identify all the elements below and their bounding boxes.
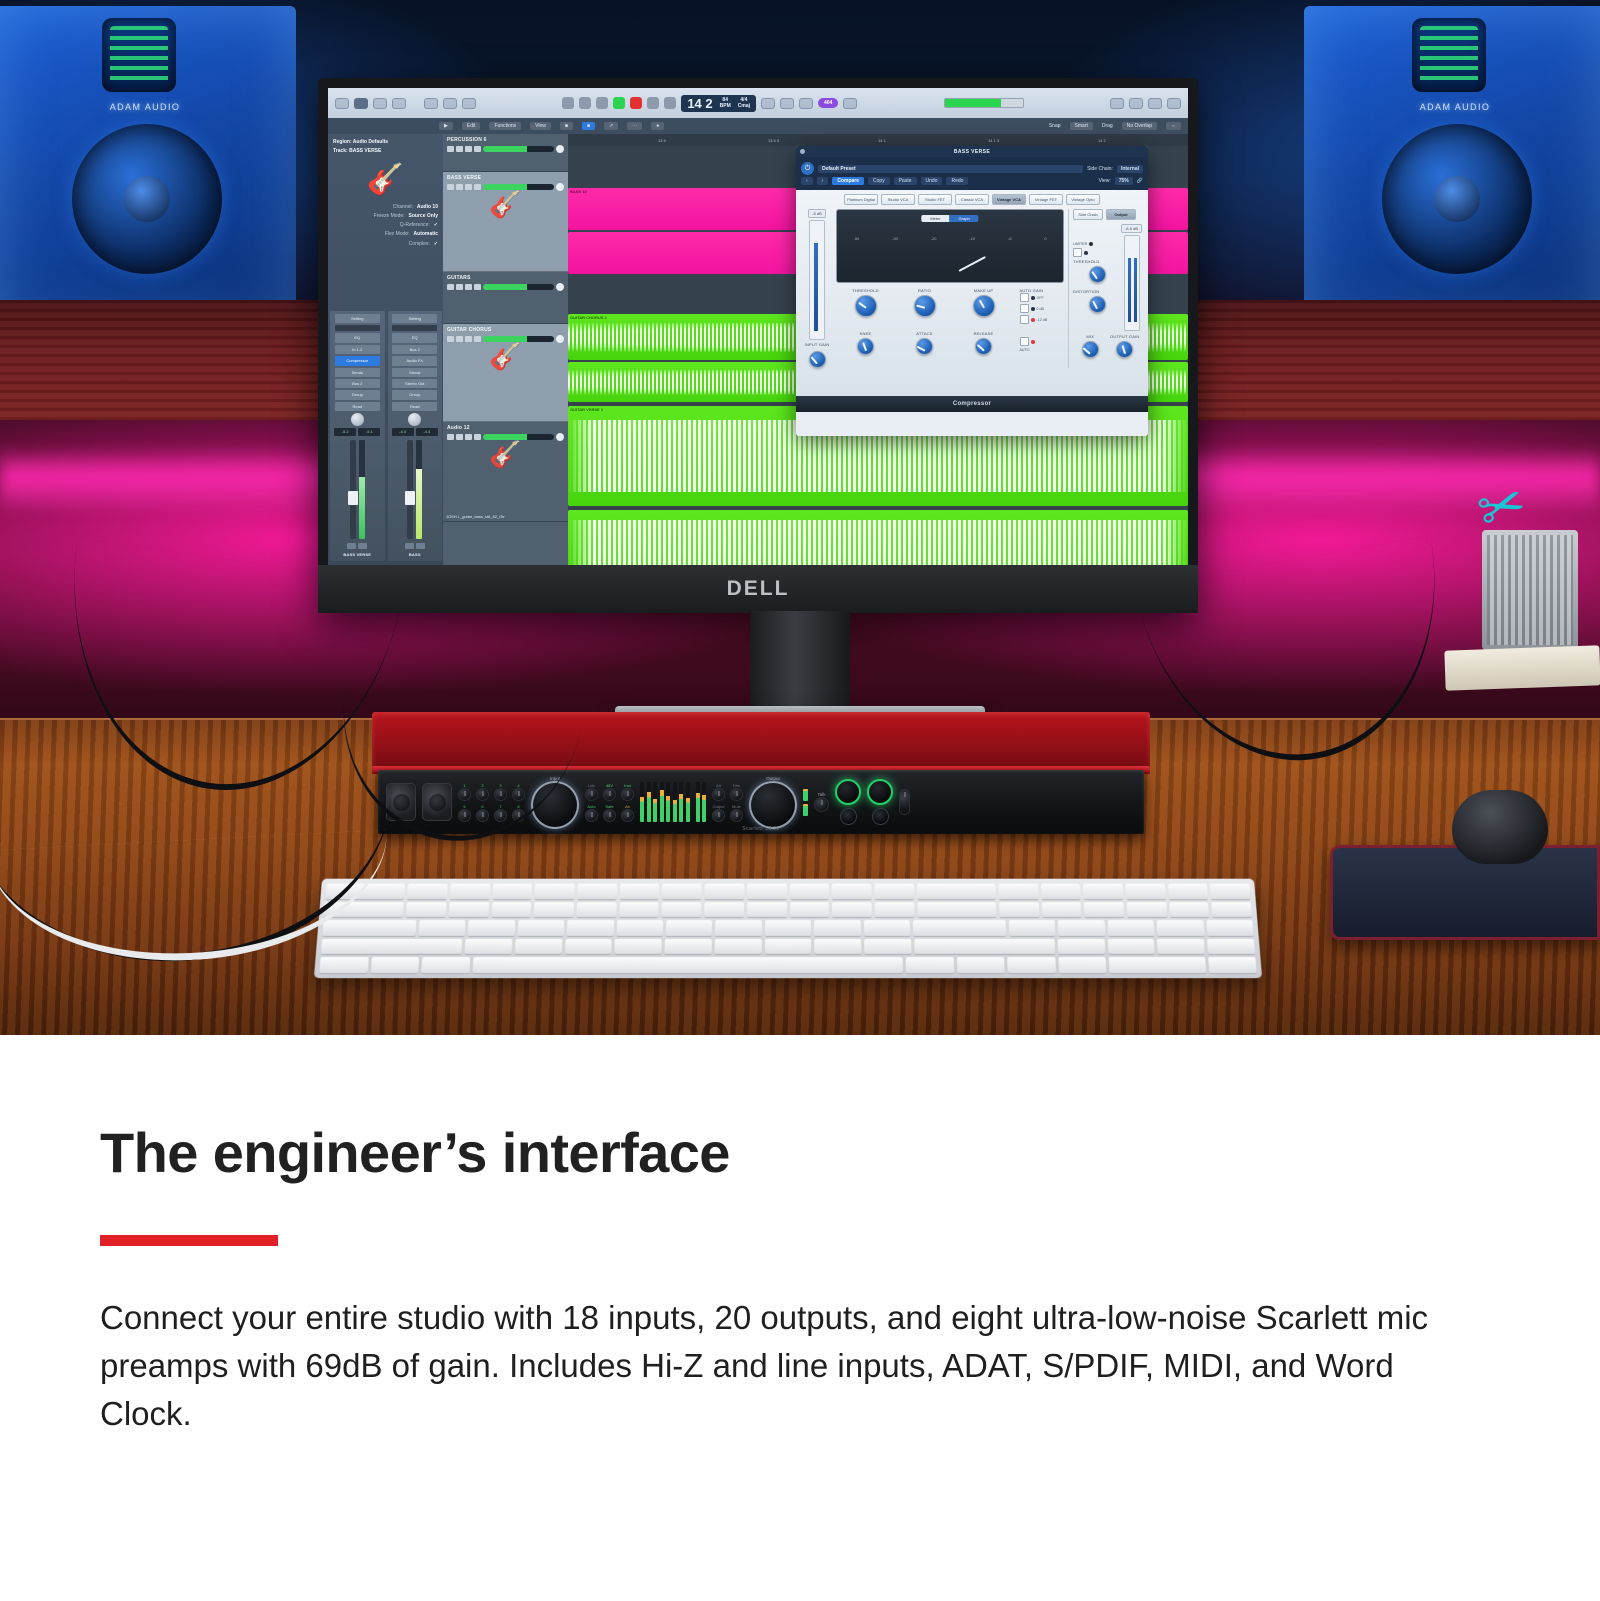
key[interactable] xyxy=(875,902,915,917)
plugin-window-title: BASS VERSE xyxy=(954,149,990,155)
plugin-footer-label: Compressor xyxy=(796,396,1148,412)
key[interactable] xyxy=(1169,902,1210,917)
threshold-label: THRESHOLD xyxy=(843,288,889,293)
input-monitor-button[interactable] xyxy=(474,336,481,342)
key[interactable] xyxy=(449,902,489,917)
monitor-chin: DELL xyxy=(318,565,1198,613)
compressor-plugin-window[interactable]: BASS VERSE ⏻ Default Preset Side Chain: … xyxy=(796,146,1148,436)
side-chain-label: Side Chain: xyxy=(1087,166,1113,172)
knob-row-bottom: KNEE ATTACK RELEASE xyxy=(836,331,1064,355)
model-selector: Platinum Digital Studio VCA Studio FET C… xyxy=(802,194,1142,205)
key[interactable] xyxy=(1125,884,1165,899)
graph-tab[interactable]: Graph xyxy=(950,215,979,222)
phantom-power-button[interactable] xyxy=(603,788,616,801)
release-knob[interactable] xyxy=(975,338,992,355)
guitar-icon: 🎸 xyxy=(447,343,564,369)
bus-slot[interactable]: Stereo Out xyxy=(392,379,437,388)
solo-button[interactable] xyxy=(416,543,425,549)
key[interactable] xyxy=(421,957,470,973)
safe-button[interactable] xyxy=(603,809,616,822)
track-volume-slider[interactable] xyxy=(483,284,554,290)
undo-button[interactable]: Undo xyxy=(921,177,943,185)
solo-button[interactable] xyxy=(456,146,463,152)
accent-rule xyxy=(100,1235,278,1246)
metronome-icon[interactable] xyxy=(799,98,813,109)
limiter-threshold-label: THRESHOLD xyxy=(1073,259,1121,264)
smart-controls-icon[interactable] xyxy=(392,98,406,109)
key[interactable] xyxy=(832,902,872,917)
input-monitor-button[interactable] xyxy=(474,434,481,440)
key[interactable] xyxy=(666,920,713,936)
plugin-power-icon[interactable]: ⏻ xyxy=(801,162,814,175)
key[interactable] xyxy=(319,957,368,973)
mute-button[interactable] xyxy=(447,146,454,152)
model-button[interactable]: Classic VCA xyxy=(955,194,989,205)
key[interactable] xyxy=(1206,920,1254,936)
key[interactable] xyxy=(1109,957,1206,973)
peak-value: -4.4 xyxy=(416,428,438,435)
key[interactable] xyxy=(705,884,745,899)
key[interactable] xyxy=(957,957,1005,973)
keyboard-row xyxy=(319,957,1256,973)
key[interactable] xyxy=(567,920,614,936)
key[interactable] xyxy=(765,939,812,955)
key[interactable] xyxy=(322,920,416,936)
key[interactable] xyxy=(515,939,563,955)
pencil-icon[interactable] xyxy=(462,98,476,109)
solo-button[interactable] xyxy=(456,184,463,190)
quick-help-icon[interactable] xyxy=(373,98,387,109)
solo-button[interactable] xyxy=(358,543,367,549)
instrument-button[interactable] xyxy=(621,788,634,801)
channel-strip[interactable]: Setting EQ In 1-2 Compressor Sends Bus 2… xyxy=(330,311,385,561)
record-button[interactable] xyxy=(465,434,472,440)
record-button[interactable] xyxy=(465,284,472,290)
key[interactable] xyxy=(1208,957,1257,973)
ruler-mark: 13 4 3 xyxy=(768,138,779,143)
key[interactable] xyxy=(565,939,612,955)
auto-label: AUTO xyxy=(1020,348,1058,352)
key[interactable] xyxy=(704,902,744,917)
automation-slot[interactable]: Read xyxy=(392,402,437,411)
output-meter xyxy=(1124,235,1140,331)
makeup-knob[interactable] xyxy=(973,295,995,317)
keyboard-row xyxy=(325,884,1250,899)
knee-knob[interactable] xyxy=(857,338,874,355)
record-button[interactable] xyxy=(465,184,472,190)
threshold-knob[interactable] xyxy=(855,295,877,317)
talkback-button[interactable] xyxy=(814,797,829,812)
snap-value[interactable]: Smart xyxy=(1070,122,1093,130)
key[interactable] xyxy=(1083,884,1123,899)
mute-button[interactable] xyxy=(347,543,356,549)
inspector-icon[interactable] xyxy=(354,98,368,109)
master-level-meter xyxy=(944,98,1024,108)
record-button[interactable] xyxy=(465,146,472,152)
track-view-icon[interactable]: ■ xyxy=(582,122,595,130)
eq-thumbnail[interactable] xyxy=(392,325,437,331)
key[interactable] xyxy=(906,957,954,973)
key[interactable] xyxy=(1211,902,1252,917)
key[interactable] xyxy=(492,884,532,899)
key[interactable] xyxy=(662,902,702,917)
loops-icon[interactable] xyxy=(1148,98,1162,109)
mute-button[interactable] xyxy=(447,434,454,440)
notebook xyxy=(1444,645,1600,690)
key[interactable] xyxy=(1107,920,1154,936)
track-pan-knob[interactable] xyxy=(556,335,564,343)
plugin-header: ⏻ Default Preset Side Chain: Internal ‹ … xyxy=(796,157,1148,190)
input-meter xyxy=(809,220,825,340)
solo-button[interactable] xyxy=(456,284,463,290)
monitor-brand-logo: DELL xyxy=(727,577,790,601)
input-monitor-button[interactable] xyxy=(474,284,481,290)
body-copy: Connect your entire studio with 18 input… xyxy=(100,1294,1490,1437)
paste-button[interactable]: Paste xyxy=(894,177,917,185)
key[interactable] xyxy=(715,920,762,936)
key[interactable] xyxy=(874,884,914,899)
speaker-brand-label: ADAM AUDIO xyxy=(110,102,181,112)
volume-fader[interactable] xyxy=(350,440,356,539)
tweeter xyxy=(102,18,176,92)
key[interactable] xyxy=(491,902,531,917)
key[interactable] xyxy=(577,884,617,899)
headphone-2-jack[interactable] xyxy=(872,808,889,825)
inspector-region-header[interactable]: Region: Audio Defaults xyxy=(333,138,438,147)
key[interactable] xyxy=(665,939,712,955)
gain-value: -4.4 xyxy=(392,428,414,435)
graph-scale: -50 -30 -20 -10 -5 0 xyxy=(837,236,1063,241)
record-button[interactable] xyxy=(465,336,472,342)
attack-knob[interactable] xyxy=(916,338,933,355)
eq-slot[interactable]: EQ xyxy=(335,333,380,342)
key[interactable] xyxy=(534,902,574,917)
notes-icon[interactable] xyxy=(1129,98,1143,109)
key[interactable] xyxy=(465,939,513,955)
key[interactable] xyxy=(1207,939,1255,955)
input-slot[interactable]: In 1-2 xyxy=(335,345,380,354)
input-level-meters xyxy=(640,782,690,822)
dim-button[interactable] xyxy=(730,788,743,801)
redo-button[interactable]: Redo xyxy=(946,177,968,185)
mix-label: MIX xyxy=(1074,334,1106,339)
key[interactable] xyxy=(662,884,702,899)
bus-slot[interactable]: Bus 2 xyxy=(335,379,380,388)
automation-slot[interactable]: Read xyxy=(335,402,380,411)
air-button[interactable] xyxy=(621,809,634,822)
key[interactable] xyxy=(1041,902,1081,917)
headphone-1-knob[interactable] xyxy=(835,779,861,805)
sends-slot[interactable]: Sends xyxy=(392,368,437,377)
key[interactable] xyxy=(832,884,872,899)
grid-view-icon[interactable]: ■ xyxy=(560,122,573,130)
timeline-ruler[interactable]: 13 4 13 4 3 14 1 14 1 3 14 2 14 5 xyxy=(568,134,1188,146)
key[interactable] xyxy=(814,939,861,955)
cycle-button[interactable] xyxy=(664,97,676,109)
output-gain-knob[interactable] xyxy=(1116,341,1133,358)
daw-track-list: PERCUSSION 6 BASS VERSE xyxy=(443,134,568,565)
key[interactable] xyxy=(450,884,490,899)
space-key[interactable] xyxy=(472,957,903,973)
model-button[interactable]: Studio VCA xyxy=(881,194,915,205)
key[interactable] xyxy=(790,902,830,917)
key[interactable] xyxy=(1107,939,1155,955)
speaker-cabinet: ADAM AUDIO xyxy=(0,6,296,330)
library-icon[interactable] xyxy=(335,98,349,109)
auto-section: AUTO xyxy=(1020,331,1058,355)
plugin-right-section: Side Chain Output LIMITER THRESHOLD xyxy=(1068,209,1142,368)
drag-value[interactable]: No Overlap xyxy=(1122,122,1157,130)
key[interactable] xyxy=(1168,884,1209,899)
display-mode-tabs: Meter Graph xyxy=(921,215,978,222)
compare-button[interactable]: Compare xyxy=(832,177,864,185)
record-button[interactable] xyxy=(630,97,642,109)
page-title: The engineer’s interface xyxy=(100,1123,1500,1183)
key[interactable] xyxy=(517,920,564,936)
link-button[interactable] xyxy=(585,788,598,801)
track-header[interactable]: Audio 12 🎸 JOSH L_guitar_bass_tall_82_Gt… xyxy=(443,422,568,522)
keyboard-row xyxy=(321,939,1255,955)
setting-slot[interactable]: Setting xyxy=(392,314,437,323)
list-editors-icon[interactable] xyxy=(1110,98,1124,109)
automation-icon[interactable]: ↗ xyxy=(604,122,618,130)
limiter-threshold-knob[interactable] xyxy=(1089,266,1106,283)
plugin-slot[interactable]: Compressor xyxy=(335,356,380,365)
key[interactable] xyxy=(1058,920,1105,936)
key[interactable] xyxy=(917,884,996,899)
key[interactable] xyxy=(998,884,1038,899)
key[interactable] xyxy=(814,920,861,936)
mute-button[interactable] xyxy=(405,543,414,549)
link-icon[interactable]: 🔗 xyxy=(1137,178,1143,184)
mix-knob[interactable] xyxy=(1082,341,1099,358)
auto-gain-off-radio[interactable] xyxy=(1020,293,1029,302)
pen-cup xyxy=(1482,530,1578,650)
auto-gain-section: AUTO GAIN OFF 0 dB -12 dB xyxy=(1020,288,1058,326)
ruler-mark: 14 1 3 xyxy=(988,138,999,143)
mute-button[interactable] xyxy=(447,284,454,290)
compression-graph[interactable]: Meter Graph -50 -30 -20 -10 -5 xyxy=(836,209,1064,283)
channel-name: BASS xyxy=(409,551,421,558)
input-slot[interactable]: Bus 2 xyxy=(392,345,437,354)
auto-gain-12db-radio[interactable] xyxy=(1020,315,1029,324)
key[interactable] xyxy=(1058,957,1107,973)
channel-name: BASS VERSE xyxy=(343,551,371,558)
track-pan-knob[interactable] xyxy=(556,145,564,153)
key[interactable] xyxy=(370,957,419,973)
key[interactable] xyxy=(418,920,465,936)
group-slot[interactable]: Group xyxy=(392,390,437,399)
plugin-title-bar[interactable]: BASS VERSE xyxy=(796,146,1148,157)
release-label: RELEASE xyxy=(961,331,1007,336)
speaker-cabinet: ADAM AUDIO xyxy=(1304,6,1600,330)
inspector-row: Complex: ✓ xyxy=(333,240,438,249)
output-meter-value: -6.5 dB xyxy=(1121,224,1142,233)
input-gain-knob[interactable] xyxy=(809,351,826,368)
shift-key[interactable] xyxy=(321,939,463,955)
prev-preset-button[interactable]: ‹ xyxy=(801,177,813,185)
shift-key[interactable] xyxy=(914,939,1055,955)
zoom-icon[interactable]: ⇔ xyxy=(1166,122,1181,130)
key[interactable] xyxy=(747,884,786,899)
transport-lcd-display[interactable]: 14 2 84 BPM 4/4 Cmaj xyxy=(681,95,756,112)
pan-knob[interactable] xyxy=(408,413,421,426)
key[interactable] xyxy=(1058,939,1106,955)
key[interactable] xyxy=(619,902,659,917)
view-value[interactable]: 75% xyxy=(1115,177,1133,185)
solo-button[interactable] xyxy=(456,336,463,342)
sends-slot[interactable]: Sends xyxy=(335,368,380,377)
inspector-row: Flex Mode: Automatic xyxy=(333,230,438,239)
groove-icon[interactable]: ● xyxy=(651,122,664,130)
key[interactable] xyxy=(1210,884,1251,899)
key[interactable] xyxy=(616,920,663,936)
input-monitor-button[interactable] xyxy=(474,184,481,190)
track-header[interactable]: GUITAR CHORUS 🎸 xyxy=(443,324,568,422)
output-level-knob[interactable] xyxy=(749,781,797,829)
plugin-slot[interactable]: Audio FX xyxy=(392,356,437,365)
key[interactable] xyxy=(765,920,811,936)
auto-gain-button[interactable] xyxy=(585,809,598,822)
key[interactable] xyxy=(407,884,447,899)
setting-slot[interactable]: Setting xyxy=(335,314,380,323)
key[interactable] xyxy=(1084,902,1124,917)
headphone-1-jack[interactable] xyxy=(840,808,857,825)
ratio-knob[interactable] xyxy=(914,295,936,317)
computer-keyboard[interactable] xyxy=(314,879,1262,978)
keyboard-row xyxy=(324,902,1252,917)
key[interactable] xyxy=(1041,884,1081,899)
eq-thumbnail[interactable] xyxy=(335,325,380,331)
channel-meter xyxy=(416,440,422,539)
input-monitor-button[interactable] xyxy=(474,146,481,152)
tweeter xyxy=(1412,18,1486,92)
key[interactable] xyxy=(917,902,997,917)
power-switch[interactable] xyxy=(899,789,910,815)
channel-strip[interactable]: Setting EQ Bus 2 Audio FX Sends Stereo O… xyxy=(388,311,443,561)
pan-knob[interactable] xyxy=(351,413,364,426)
studio-monitor-speaker-right: ADAM AUDIO xyxy=(1290,0,1600,330)
auto-gain-0db-radio[interactable] xyxy=(1020,304,1029,313)
copy-button[interactable]: Copy xyxy=(868,177,890,185)
model-button[interactable]: Studio FET xyxy=(918,194,952,205)
attack-label: ATTACK xyxy=(902,331,948,336)
key[interactable] xyxy=(864,920,911,936)
output-gain-label: OUTPUT GAIN xyxy=(1109,334,1141,339)
pointer-tool-icon[interactable]: ▶ xyxy=(439,122,453,130)
browsers-icon[interactable] xyxy=(1167,98,1181,109)
key[interactable] xyxy=(535,884,575,899)
side-chain-value[interactable]: Internal xyxy=(1117,165,1143,173)
track-pan-knob[interactable] xyxy=(556,183,564,191)
key[interactable] xyxy=(747,902,787,917)
mute-button[interactable] xyxy=(730,809,743,822)
next-preset-button[interactable]: › xyxy=(817,177,829,185)
key[interactable] xyxy=(1008,957,1057,973)
key[interactable] xyxy=(1157,920,1204,936)
limiter-checkbox[interactable] xyxy=(1073,248,1082,257)
ruler-mark: 13 4 xyxy=(658,138,666,143)
track-pan-knob[interactable] xyxy=(556,283,564,291)
track-header[interactable]: BASS VERSE 🎸 xyxy=(443,172,568,272)
mute-button[interactable] xyxy=(447,336,454,342)
track-pan-knob[interactable] xyxy=(556,433,564,441)
daw-menu-bar: ▶ Edit Functions View ■ ■ ↗ ⋯ ● Snap Sma… xyxy=(328,118,1188,134)
key[interactable] xyxy=(406,902,447,917)
stop-button[interactable] xyxy=(596,97,608,109)
auto-checkbox[interactable] xyxy=(1020,337,1029,346)
rewind-button[interactable] xyxy=(562,97,574,109)
model-button[interactable]: Vintage FET xyxy=(1029,194,1063,205)
solo-button[interactable] xyxy=(456,434,463,440)
mixer-icon[interactable] xyxy=(424,98,438,109)
track-volume-slider[interactable] xyxy=(483,146,554,152)
key[interactable] xyxy=(913,920,1006,936)
snap-label: Snap xyxy=(1049,123,1061,129)
key[interactable] xyxy=(1009,920,1056,936)
input-mode-buttons: Link 48V Inst Auto Safe Air xyxy=(585,783,634,822)
key[interactable] xyxy=(468,920,515,936)
lcd-tempo-label: BPM xyxy=(720,103,731,109)
audio-region[interactable] xyxy=(568,510,1188,565)
track-header[interactable]: PERCUSSION 6 xyxy=(443,134,568,172)
menu-edit[interactable]: Edit xyxy=(462,122,481,130)
key[interactable] xyxy=(620,884,660,899)
lcd-position: 14 2 xyxy=(687,97,712,110)
warning-icon xyxy=(843,98,857,109)
preset-selector[interactable]: Default Preset xyxy=(818,165,1083,173)
distortion-knob[interactable] xyxy=(1089,296,1106,313)
key[interactable] xyxy=(790,884,829,899)
key[interactable] xyxy=(864,939,911,955)
key[interactable] xyxy=(615,939,662,955)
key[interactable] xyxy=(1126,902,1167,917)
menu-view[interactable]: View xyxy=(530,122,551,130)
model-button[interactable]: Platinum Digital xyxy=(844,194,878,205)
editors-icon[interactable] xyxy=(443,98,457,109)
model-button[interactable]: Vintage VCA xyxy=(992,194,1026,205)
key[interactable] xyxy=(1157,939,1205,955)
meter-tab[interactable]: Meter xyxy=(921,215,949,222)
capture-recording-button[interactable] xyxy=(647,97,659,109)
play-button[interactable] xyxy=(613,97,625,109)
track-header[interactable]: GUITARS xyxy=(443,272,568,324)
volume-fader[interactable] xyxy=(407,440,413,539)
close-icon[interactable] xyxy=(800,149,805,154)
gain-value: -5.2 xyxy=(334,428,356,435)
microphone-icon[interactable] xyxy=(780,98,794,109)
eq-slot[interactable]: EQ xyxy=(392,333,437,342)
model-button[interactable]: Vintage Opto xyxy=(1066,194,1100,205)
headphone-2-knob[interactable] xyxy=(867,779,893,805)
daw-toolbar: 14 2 84 BPM 4/4 Cmaj 404 xyxy=(328,88,1188,118)
flex-icon[interactable]: ⋯ xyxy=(627,122,642,130)
key[interactable] xyxy=(999,902,1039,917)
output-tab[interactable]: Output xyxy=(1106,209,1136,220)
meter-needle xyxy=(959,256,986,272)
key[interactable] xyxy=(577,902,617,917)
key[interactable] xyxy=(715,939,762,955)
alt-button[interactable] xyxy=(712,788,725,801)
tuner-icon[interactable] xyxy=(761,98,775,109)
output-button[interactable] xyxy=(712,809,725,822)
mute-button[interactable] xyxy=(447,184,454,190)
group-slot[interactable]: Group xyxy=(335,390,380,399)
status-filename: JOSH L_guitar_bass_tall_82_Gtr xyxy=(446,514,505,519)
side-chain-tab[interactable]: Side Chain xyxy=(1073,209,1103,220)
fast-forward-button[interactable] xyxy=(579,97,591,109)
menu-functions[interactable]: Functions xyxy=(489,122,521,130)
